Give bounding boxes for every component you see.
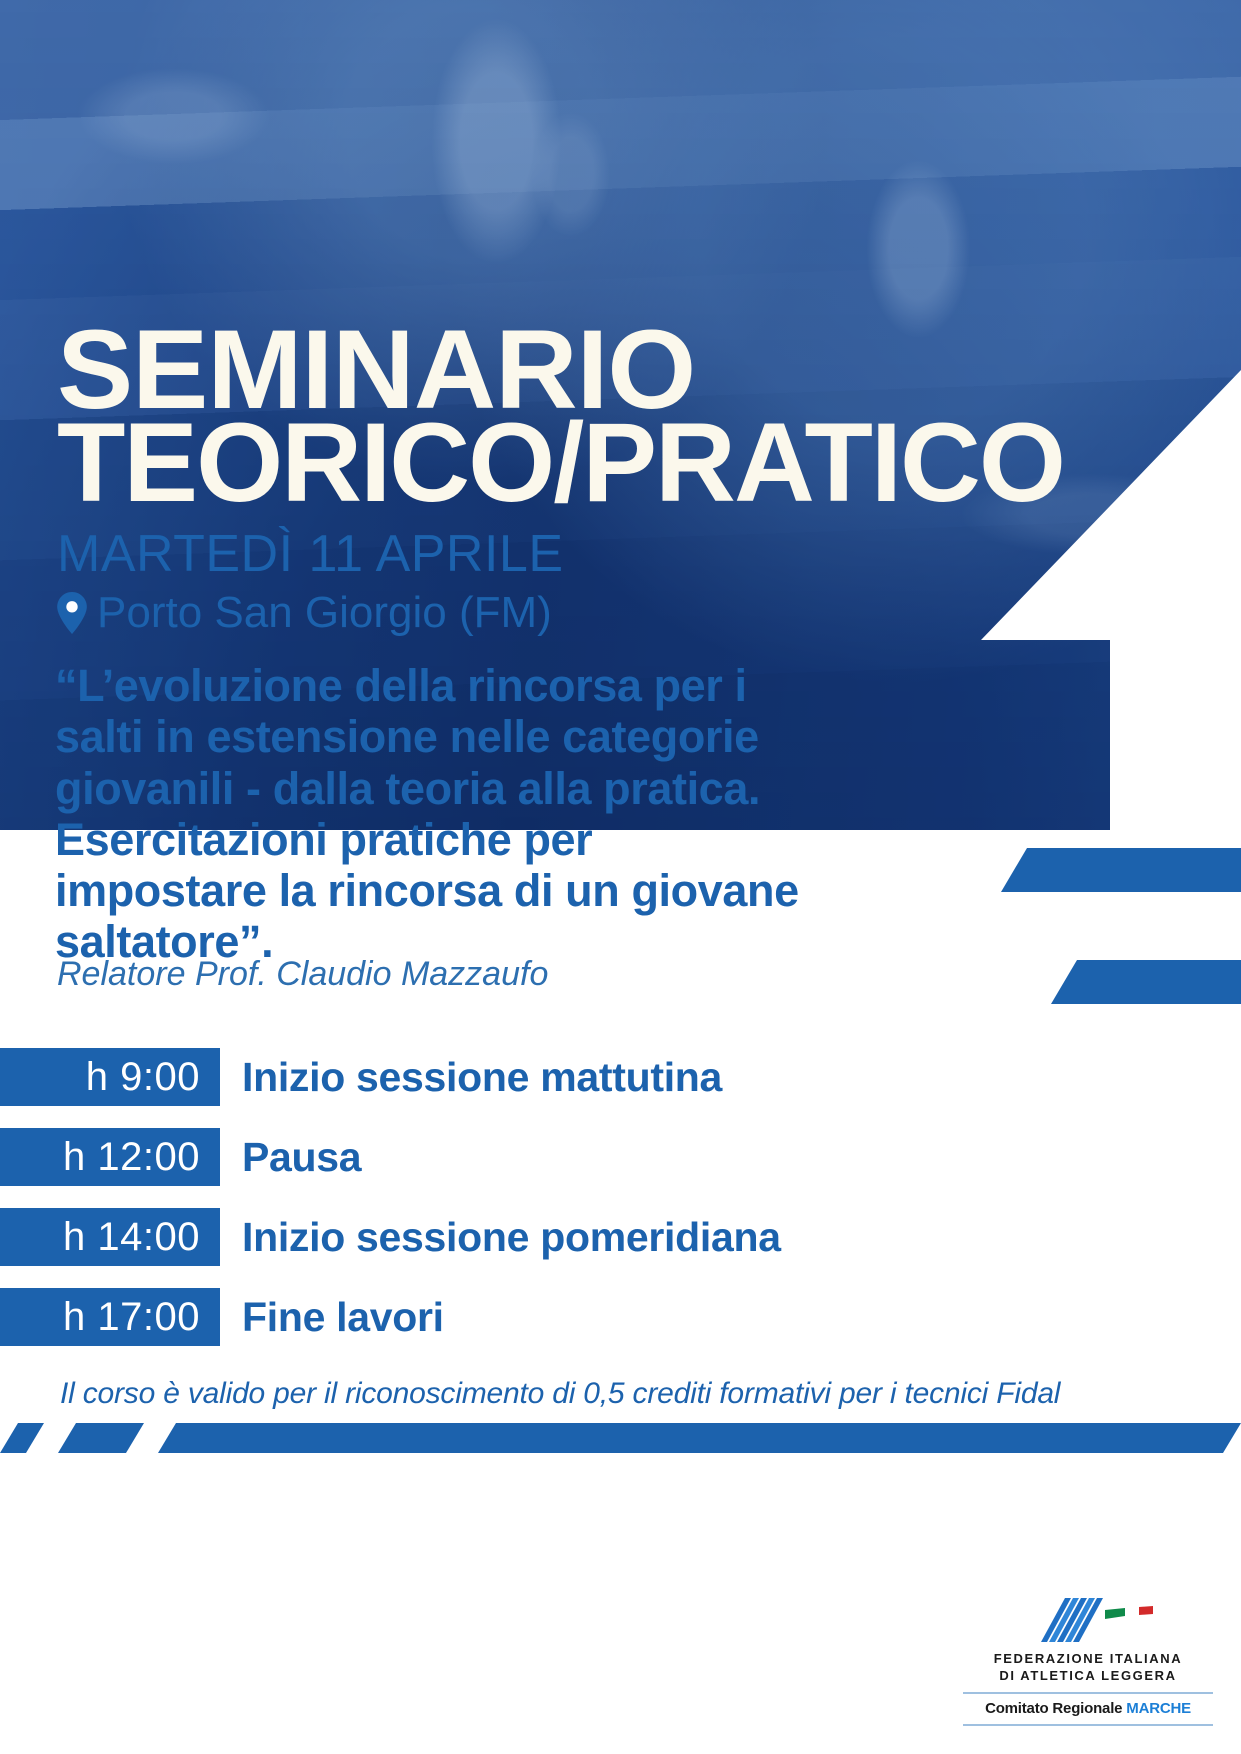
committee-prefix: Comitato Regionale — [985, 1700, 1126, 1717]
schedule-row: h 9:00 Inizio sessione mattutina — [0, 1048, 1100, 1106]
stripe-medium — [58, 1423, 144, 1453]
map-pin-icon — [57, 592, 87, 634]
event-location: Porto San Giorgio (FM) — [57, 588, 552, 638]
schedule-description: Fine lavori — [242, 1294, 444, 1341]
event-location-label: Porto San Giorgio (FM) — [97, 588, 552, 638]
committee-region: MARCHE — [1126, 1700, 1191, 1717]
logo-divider — [963, 1692, 1213, 1694]
title-line-2: TEORICO/PRATICO — [57, 414, 1064, 513]
seminar-quote: “L’evoluzione della rincorsa per i salti… — [55, 660, 815, 968]
schedule-row: h 14:00 Inizio sessione pomeridiana — [0, 1208, 1100, 1266]
speaker-name: Relatore Prof. Claudio Mazzaufo — [57, 955, 548, 994]
decorative-bar-upper — [1001, 848, 1241, 892]
stripe-small — [0, 1423, 44, 1453]
fidal-logo-icon — [1013, 1596, 1163, 1644]
page-title: SEMINARIO TEORICO/PRATICO — [57, 322, 1064, 513]
schedule-time: h 9:00 — [0, 1048, 220, 1106]
schedule-time: h 14:00 — [0, 1208, 220, 1266]
schedule-time: h 12:00 — [0, 1128, 220, 1186]
logo-divider-bottom — [963, 1724, 1213, 1726]
fidal-logo: FEDERAZIONE ITALIANA DI ATLETICA LEGGERA… — [963, 1596, 1213, 1732]
schedule-row: h 17:00 Fine lavori — [0, 1288, 1100, 1346]
schedule-description: Inizio sessione mattutina — [242, 1054, 722, 1101]
federation-name: FEDERAZIONE ITALIANA DI ATLETICA LEGGERA — [963, 1650, 1213, 1685]
schedule-time: h 17:00 — [0, 1288, 220, 1346]
bottom-stripes — [0, 1423, 1241, 1453]
federation-line-2: DI ATLETICA LEGGERA — [963, 1667, 1213, 1685]
stripe-long — [158, 1423, 1241, 1453]
federation-line-1: FEDERAZIONE ITALIANA — [963, 1650, 1213, 1668]
schedule-description: Inizio sessione pomeridiana — [242, 1214, 781, 1261]
schedule-description: Pausa — [242, 1134, 361, 1181]
schedule-list: h 9:00 Inizio sessione mattutina h 12:00… — [0, 1048, 1100, 1368]
schedule-row: h 12:00 Pausa — [0, 1128, 1100, 1186]
event-date: MARTEDÌ 11 APRILE — [57, 524, 564, 584]
regional-committee: Comitato Regionale MARCHE — [963, 1700, 1213, 1717]
decorative-bar-lower — [1051, 960, 1241, 1004]
credits-note: Il corso è valido per il riconoscimento … — [60, 1377, 1060, 1411]
